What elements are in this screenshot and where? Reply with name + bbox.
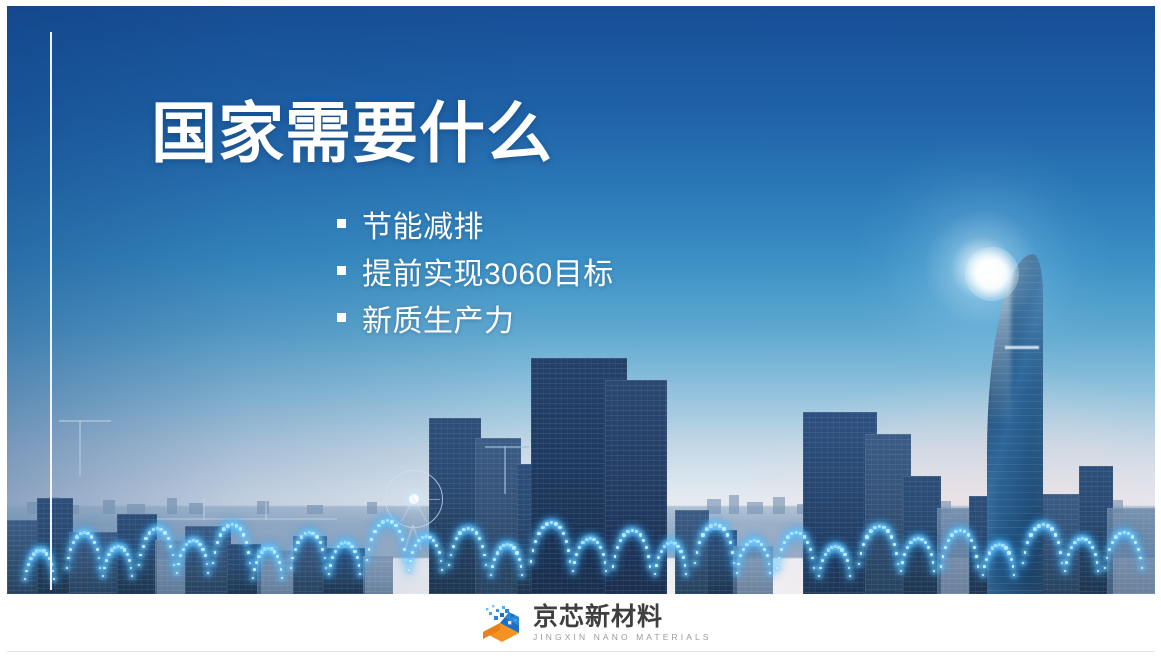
glow-arc [1065, 538, 1099, 594]
glow-arc [253, 548, 283, 594]
logo-wordmark: 京芯新材料 JINGXIN NANO MATERIALS [533, 604, 712, 643]
glow-arc [449, 528, 487, 594]
glow-arc [983, 544, 1015, 594]
construction-crane-jib [59, 420, 111, 422]
glow-arc [531, 522, 571, 594]
glow-arc [491, 544, 523, 594]
company-logo: 京芯新材料 JINGXIN NANO MATERIALS [478, 604, 712, 643]
glow-arc [409, 536, 443, 594]
glow-arc [213, 524, 251, 594]
glow-arc [737, 540, 771, 594]
slide-footer: 京芯新材料 JINGXIN NANO MATERIALS [0, 596, 1161, 660]
construction-crane-jib [485, 446, 529, 448]
bullet-text: 新质生产力 [362, 296, 515, 340]
bullet-text: 节能减排 [362, 202, 484, 246]
glow-arc [941, 530, 979, 594]
slide-image-area: 国家需要什么 节能减排提前实现3060目标新质生产力 [7, 6, 1155, 594]
construction-crane [79, 420, 81, 476]
glow-arc [1023, 524, 1063, 594]
glow-arc [139, 528, 175, 594]
glow-arc [103, 546, 133, 594]
bullet-square-icon [337, 266, 346, 275]
glow-arc [819, 546, 851, 594]
bullet-item: 提前实现3060目标 [337, 247, 614, 294]
glow-arc [573, 538, 607, 594]
glow-arc [291, 532, 327, 594]
bullet-item: 节能减排 [337, 200, 614, 247]
jingxin-pixel-logo-icon [478, 605, 524, 643]
glow-arc [613, 530, 651, 594]
glowing-dot-arcs [7, 484, 1155, 594]
glow-arc [367, 520, 407, 594]
accent-vertical-line [50, 32, 52, 590]
logo-name-cn: 京芯新材料 [533, 604, 712, 630]
sun-core [965, 247, 1019, 301]
glow-arc [655, 542, 687, 594]
glow-arc [777, 532, 815, 594]
glow-arc [1105, 532, 1143, 594]
slide-bullet-list: 节能减排提前实现3060目标新质生产力 [337, 200, 614, 341]
bullet-item: 新质生产力 [337, 294, 614, 341]
bullet-square-icon [337, 313, 346, 322]
logo-name-en: JINGXIN NANO MATERIALS [533, 631, 712, 643]
glow-arc [177, 540, 209, 594]
glow-arc [859, 526, 899, 594]
bullet-square-icon [337, 219, 346, 228]
glow-arc [329, 542, 361, 594]
glow-arc [901, 538, 935, 594]
slide-title: 国家需要什么 [151, 92, 553, 174]
bullet-text: 提前实现3060目标 [362, 249, 614, 293]
glow-arc [67, 532, 101, 594]
glow-arc [695, 524, 735, 594]
presentation-slide: 国家需要什么 节能减排提前实现3060目标新质生产力 [0, 0, 1161, 660]
footer-divider [7, 651, 1154, 652]
